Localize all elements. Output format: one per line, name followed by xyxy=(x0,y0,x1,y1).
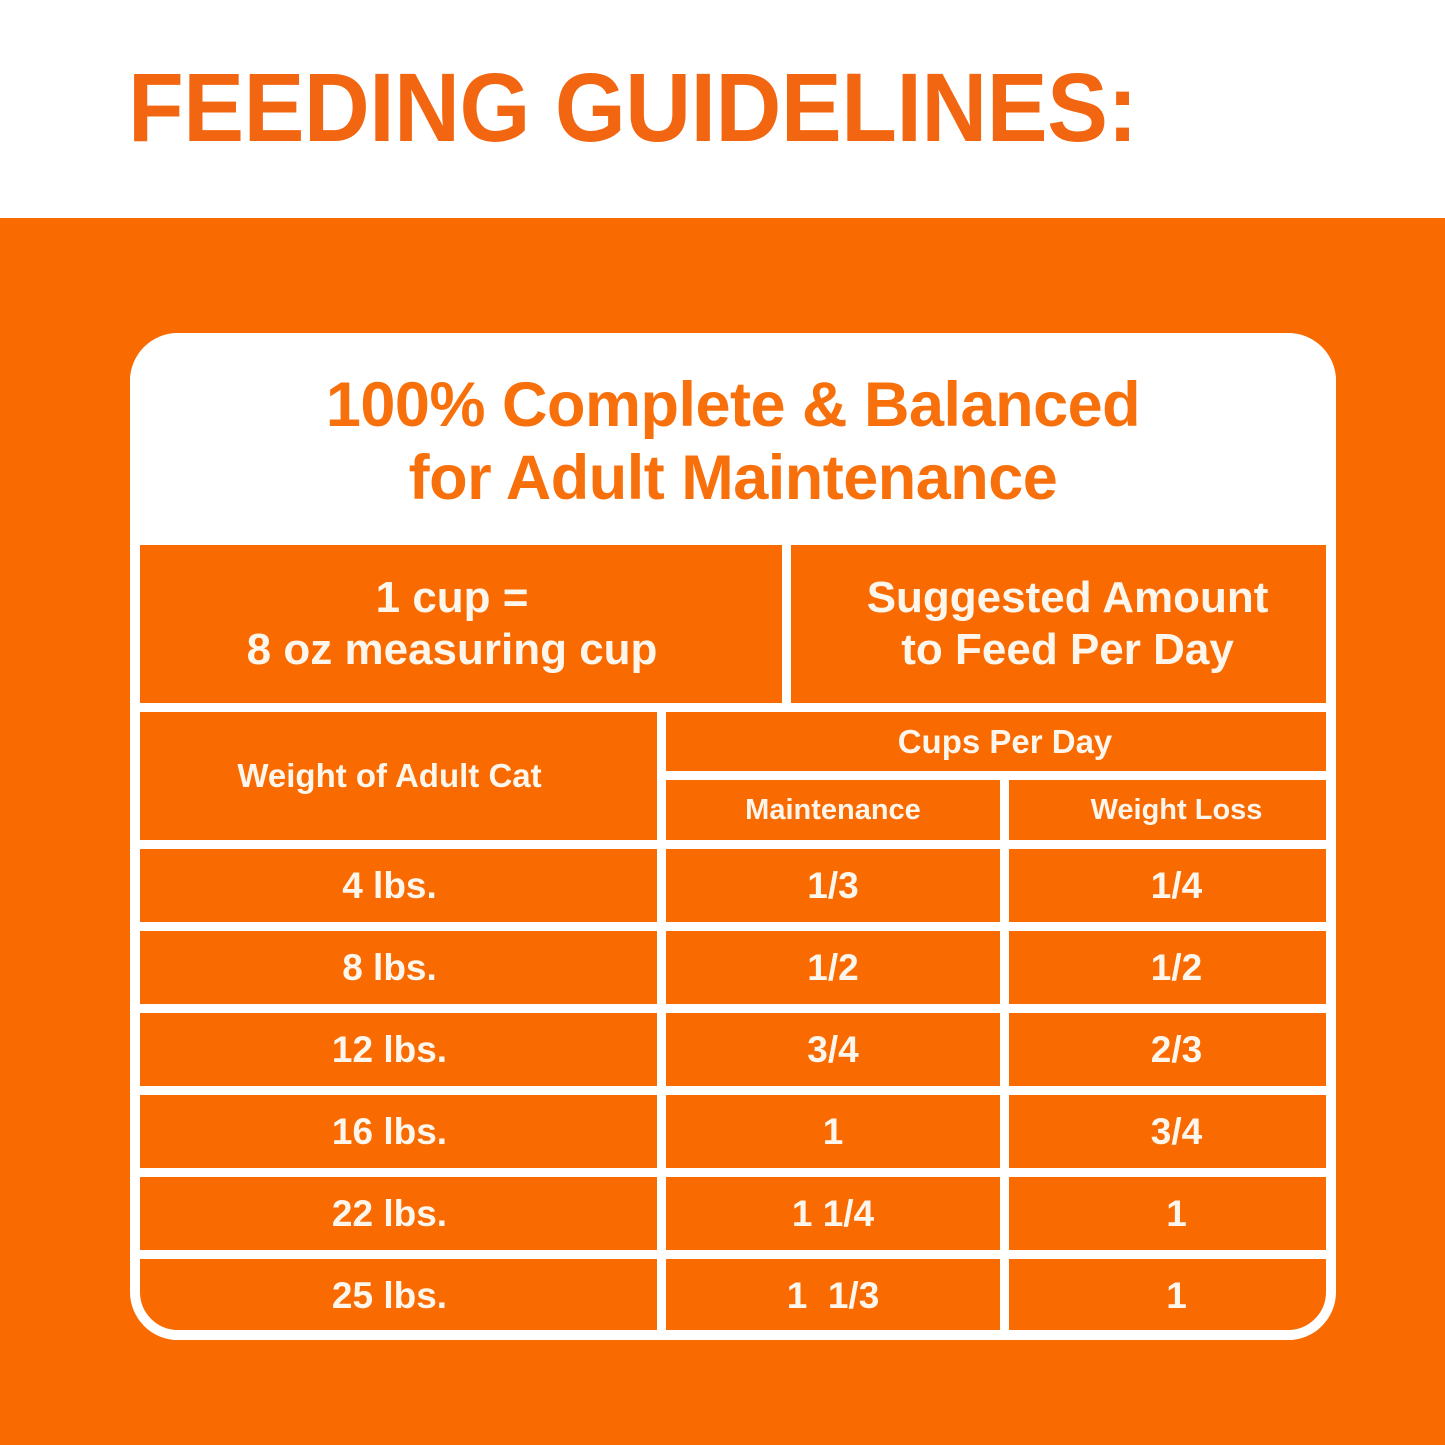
cell-maintenance: 3/4 xyxy=(666,1013,1000,1086)
suggested-amount-line-1: Suggested Amount xyxy=(867,572,1269,624)
weight-loss-header: Weight Loss xyxy=(1009,780,1344,840)
table-row: 4 lbs. 1/3 1/4 xyxy=(122,849,1344,922)
table-top-header-row: 1 cup = 8 oz measuring cup Suggested Amo… xyxy=(122,545,1344,703)
cell-maintenance: 1 xyxy=(666,1095,1000,1168)
cell-maintenance: 1/2 xyxy=(666,931,1000,1004)
table-row: 8 lbs. 1/2 1/2 xyxy=(122,931,1344,1004)
suggested-amount-header-cell: Suggested Amount to Feed Per Day xyxy=(791,545,1344,703)
weight-of-adult-cat-header: Weight of Adult Cat xyxy=(122,712,657,840)
cups-per-day-header: Cups Per Day xyxy=(666,712,1344,771)
cell-weight: 8 lbs. xyxy=(122,931,657,1004)
cell-maintenance: 1/3 xyxy=(666,849,1000,922)
table-row: 16 lbs. 1 3/4 xyxy=(122,1095,1344,1168)
table-row: 25 lbs. 1 1/3 1 xyxy=(122,1259,1344,1332)
cell-weight: 25 lbs. xyxy=(122,1259,657,1332)
feeding-card: 100% Complete & Balanced for Adult Maint… xyxy=(130,333,1336,1340)
measuring-cup-line-2: 8 oz measuring cup xyxy=(247,624,658,676)
cell-weight-loss: 1 xyxy=(1009,1177,1344,1250)
measuring-cup-line-1: 1 cup = xyxy=(247,572,658,624)
table-row: 12 lbs. 3/4 2/3 xyxy=(122,1013,1344,1086)
cell-weight-loss: 2/3 xyxy=(1009,1013,1344,1086)
maintenance-header: Maintenance xyxy=(666,780,1000,840)
card-heading-line-1: 100% Complete & Balanced xyxy=(130,369,1336,442)
cell-weight-loss: 1 xyxy=(1009,1259,1344,1332)
card-heading-line-2: for Adult Maintenance xyxy=(130,442,1336,515)
cell-maintenance: 1 1/4 xyxy=(666,1177,1000,1250)
header-band: FEEDING GUIDELINES: xyxy=(0,0,1445,218)
cell-maintenance: 1 1/3 xyxy=(666,1259,1000,1332)
cups-sub-header-row: Maintenance Weight Loss xyxy=(666,780,1344,840)
cell-weight-loss: 1/2 xyxy=(1009,931,1344,1004)
cell-weight: 16 lbs. xyxy=(122,1095,657,1168)
table-row: 22 lbs. 1 1/4 1 xyxy=(122,1177,1344,1250)
feeding-table: 1 cup = 8 oz measuring cup Suggested Amo… xyxy=(122,545,1344,1340)
cell-weight: 22 lbs. xyxy=(122,1177,657,1250)
table-column-header-row: Weight of Adult Cat Cups Per Day Mainten… xyxy=(122,712,1344,840)
cups-per-day-header-group: Cups Per Day Maintenance Weight Loss xyxy=(666,712,1344,840)
cell-weight-loss: 1/4 xyxy=(1009,849,1344,922)
cell-weight-loss: 3/4 xyxy=(1009,1095,1344,1168)
card-heading: 100% Complete & Balanced for Adult Maint… xyxy=(130,333,1336,515)
cell-weight: 12 lbs. xyxy=(122,1013,657,1086)
measuring-cup-header-cell: 1 cup = 8 oz measuring cup xyxy=(122,545,782,703)
page-title: FEEDING GUIDELINES: xyxy=(128,56,1137,160)
suggested-amount-line-2: to Feed Per Day xyxy=(867,624,1269,676)
cell-weight: 4 lbs. xyxy=(122,849,657,922)
feeding-guidelines-page: FEEDING GUIDELINES: 100% Complete & Bala… xyxy=(0,0,1445,1445)
